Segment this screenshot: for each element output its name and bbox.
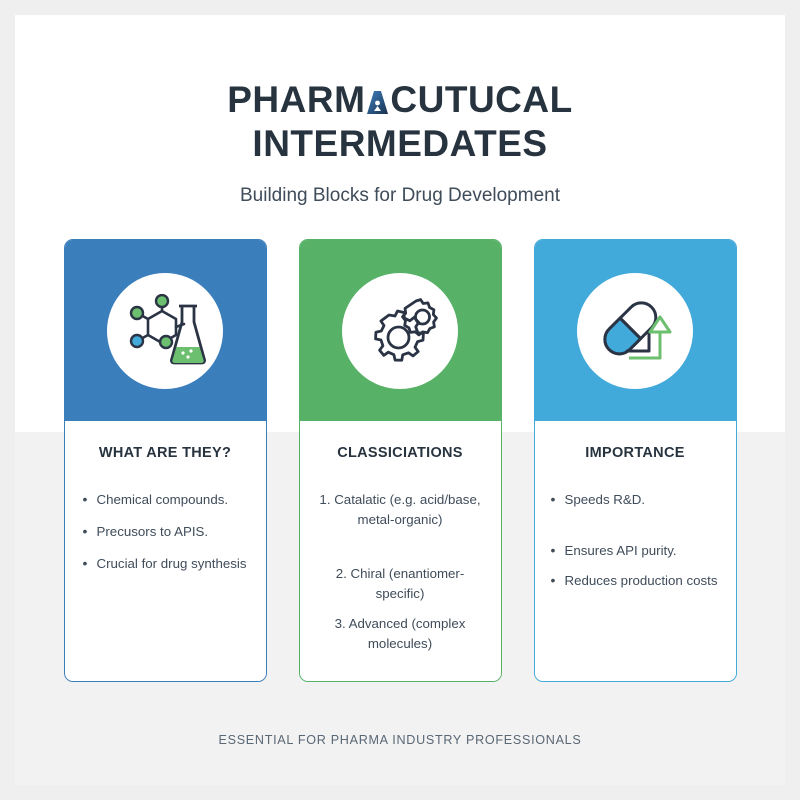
card-body-1: WHAT ARE THEY? Chemical compounds. Precu… bbox=[65, 421, 266, 681]
card-importance[interactable]: IMPORTANCE Speeds R&D. Ensures API purit… bbox=[534, 239, 737, 682]
card-row: WHAT ARE THEY? Chemical compounds. Precu… bbox=[0, 239, 800, 682]
card-body-2: CLASSICIATIONS 1. Catalatic (e.g. acid/b… bbox=[300, 421, 501, 681]
list-item: Speeds R&D. bbox=[551, 490, 720, 510]
page-title: PHARM CUTUCAL bbox=[0, 78, 800, 165]
card-title-2: CLASSICIATIONS bbox=[316, 445, 485, 461]
list-item: 3. Advanced (complex molecules) bbox=[316, 614, 485, 654]
list-item: Crucial for drug synthesis bbox=[81, 554, 250, 574]
list-item: Reduces production costs bbox=[551, 571, 720, 591]
card-classiciations[interactable]: CLASSICIATIONS 1. Catalatic (e.g. acid/b… bbox=[299, 239, 502, 682]
icon-circle-2 bbox=[342, 273, 458, 389]
footer-note: ESSENTIAL FOR PHARMA INDUSTRY PROFESSION… bbox=[0, 733, 800, 747]
card-title-1: WHAT ARE THEY? bbox=[81, 445, 250, 461]
list-item: 1. Catalatic (e.g. acid/base, metal-orga… bbox=[316, 490, 485, 530]
list-item: 2. Chiral (enantiomer-specific) bbox=[316, 564, 485, 604]
card-what-are-they[interactable]: WHAT ARE THEY? Chemical compounds. Precu… bbox=[64, 239, 267, 682]
title-line-2: INTERMEDATES bbox=[0, 122, 800, 166]
card-list-3: Speeds R&D. Ensures API purity. Reduces … bbox=[551, 490, 720, 602]
card-header-1 bbox=[65, 240, 266, 421]
title-line-1-after: CUTUCAL bbox=[390, 78, 572, 122]
card-body-3: IMPORTANCE Speeds R&D. Ensures API purit… bbox=[535, 421, 736, 681]
list-item: Precusors to APIS. bbox=[81, 522, 250, 542]
title-line-1-before: PHARM bbox=[227, 78, 365, 122]
list-item: Chemical compounds. bbox=[81, 490, 250, 510]
flask-letter-a-icon bbox=[365, 89, 390, 116]
icon-circle-3 bbox=[577, 273, 693, 389]
molecule-flask-icon bbox=[122, 294, 208, 368]
icon-circle-1 bbox=[107, 273, 223, 389]
card-header-3 bbox=[535, 240, 736, 421]
gears-icon bbox=[360, 295, 440, 367]
title-line-1: PHARM CUTUCAL bbox=[227, 78, 572, 122]
page-subtitle: Building Blocks for Drug Development bbox=[0, 185, 800, 207]
card-list-1: Chemical compounds. Precusors to APIS. C… bbox=[81, 490, 250, 587]
list-item: Ensures API purity. bbox=[551, 541, 720, 561]
pill-growth-arrow-icon bbox=[593, 295, 677, 367]
header: PHARM CUTUCAL bbox=[0, 0, 800, 207]
infographic-stage: PHARM CUTUCAL bbox=[0, 0, 800, 800]
card-header-2 bbox=[300, 240, 501, 421]
card-title-3: IMPORTANCE bbox=[551, 445, 720, 461]
card-list-2: 1. Catalatic (e.g. acid/base, metal-orga… bbox=[316, 490, 485, 664]
